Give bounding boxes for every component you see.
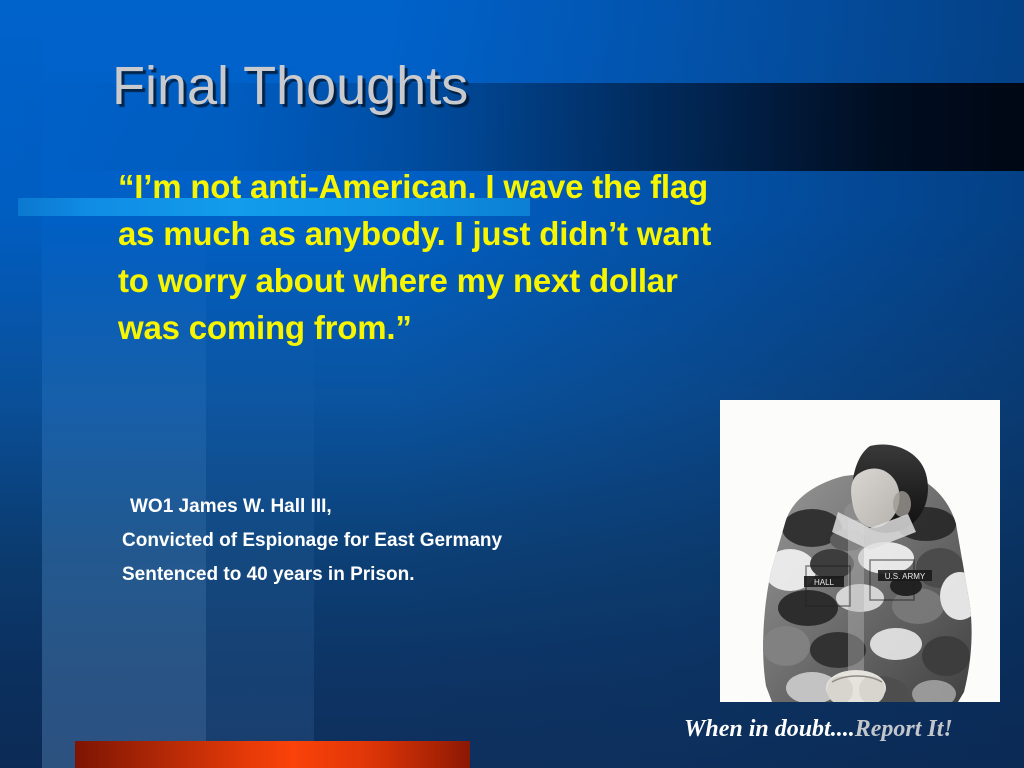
- svg-text:U.S. ARMY: U.S. ARMY: [885, 572, 926, 581]
- quote-line: as much as anybody. I just didn’t want: [118, 210, 978, 257]
- quote-text: “I’m not anti-American. I wave the flag …: [118, 163, 978, 351]
- svg-text:HALL: HALL: [814, 578, 835, 587]
- attribution-line-name: WO1 James W. Hall III,: [122, 490, 502, 524]
- photo-nametape-right: U.S. ARMY: [878, 570, 932, 581]
- footer-slogan-part-b: Report It!: [855, 716, 953, 742]
- slide: Final Thoughts “I’m not anti-American. I…: [0, 0, 1024, 768]
- soldier-photo-image: HALL U.S. ARMY: [720, 400, 1000, 702]
- accent-bar-red: [75, 741, 470, 768]
- attribution-text: WO1 James W. Hall III, Convicted of Espi…: [122, 490, 502, 592]
- photo-nametape-left: HALL: [804, 576, 844, 587]
- quote-line: “I’m not anti-American. I wave the flag: [118, 163, 978, 210]
- attribution-line-conviction: Convicted of Espionage for East Germany: [122, 524, 502, 558]
- footer-slogan-part-a: When in doubt....: [684, 716, 855, 742]
- quote-line: to worry about where my next dollar: [118, 257, 978, 304]
- quote-line: was coming from.”: [118, 304, 978, 351]
- attribution-line-sentence: Sentenced to 40 years in Prison.: [122, 558, 502, 592]
- soldier-photo: HALL U.S. ARMY: [720, 400, 1000, 702]
- footer-slogan: When in doubt....Report It!: [684, 716, 953, 743]
- page-title: Final Thoughts: [112, 55, 468, 117]
